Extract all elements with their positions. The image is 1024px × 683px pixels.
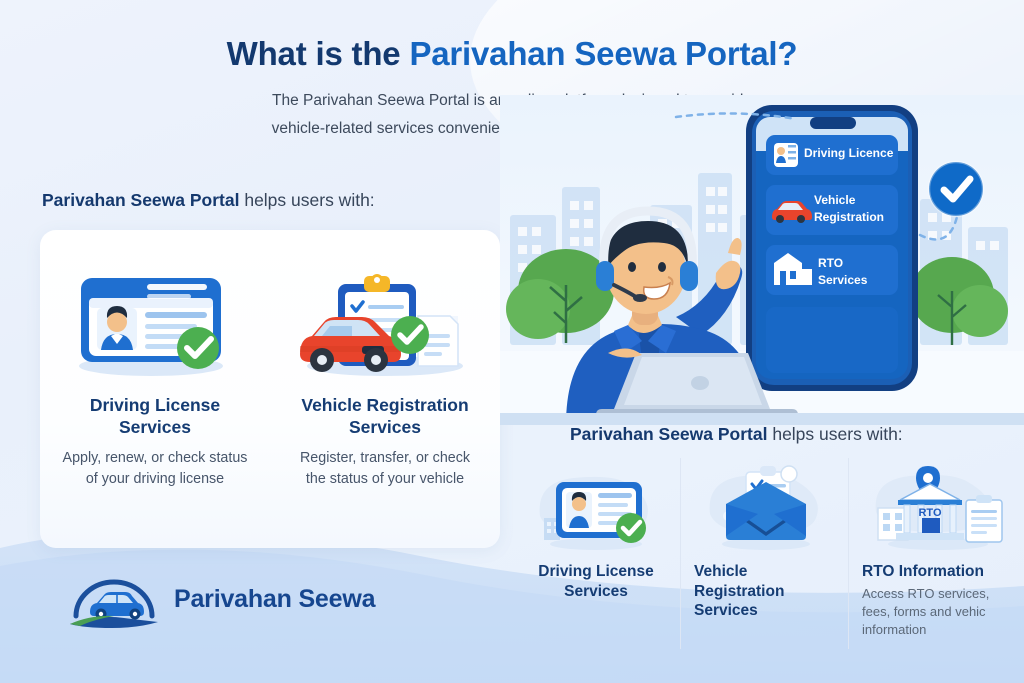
id-card-icon bbox=[54, 256, 256, 388]
parivahan-seewa-logo[interactable]: Parivahan Seewa bbox=[68, 570, 375, 628]
svg-text:RTO: RTO bbox=[918, 507, 941, 519]
page-title: What is the Parivahan Seewa Portal? bbox=[0, 34, 1024, 74]
right-card-driving-license[interactable]: Driving License Services bbox=[512, 452, 680, 657]
title-accent: Parivahan Seewa Portal? bbox=[409, 35, 797, 72]
right-services-panel: Driving License Services bbox=[512, 452, 1024, 657]
left-card-driving-license[interactable]: Driving License Services Apply, renew, o… bbox=[40, 230, 270, 548]
left-lead-rest: helps users with: bbox=[239, 190, 374, 210]
hero-illustration: Driving Licence Vehicle Registration RTO bbox=[500, 95, 1024, 425]
right-card-title: Driving License Services bbox=[526, 562, 666, 601]
svg-text:Services: Services bbox=[818, 273, 868, 287]
parivahan-car-arc-logo bbox=[68, 570, 160, 628]
svg-text:Registration: Registration bbox=[814, 210, 884, 224]
left-card-title: Driving License Services bbox=[54, 394, 256, 439]
right-card-title: Vehicle Registration Services bbox=[694, 562, 834, 621]
left-card-vehicle-registration[interactable]: Vehicle Registration Services Register, … bbox=[270, 230, 500, 548]
right-lead-rest: helps users with: bbox=[767, 424, 902, 444]
left-card-desc: Register, transfer, or check the status … bbox=[284, 448, 486, 489]
id-card-check-icon bbox=[526, 460, 666, 556]
right-card-desc: Access RTO services, fees, forms and veh… bbox=[862, 585, 1012, 640]
right-section-lead: Parivahan Seewa Portal helps users with: bbox=[570, 424, 903, 445]
right-lead-bold: Parivahan Seewa Portal bbox=[570, 424, 767, 444]
right-card-rto-information[interactable]: RTO RTO Information Access RTO services,… bbox=[848, 452, 1024, 657]
car-clipboard-icon bbox=[284, 256, 486, 388]
blue-check-badge-icon bbox=[925, 158, 987, 220]
logo-text: Parivahan Seewa bbox=[174, 585, 375, 614]
svg-text:Driving Licence: Driving Licence bbox=[804, 146, 894, 160]
rto-building-pin-icon: RTO bbox=[862, 460, 1012, 556]
title-plain: What is the bbox=[227, 35, 410, 72]
left-lead-bold: Parivahan Seewa Portal bbox=[42, 190, 239, 210]
left-section-lead: Parivahan Seewa Portal helps users with: bbox=[42, 190, 375, 211]
envelope-document-icon bbox=[694, 460, 834, 556]
right-card-title: RTO Information bbox=[862, 562, 1012, 582]
infographic-canvas: What is the Parivahan Seewa Portal? The … bbox=[0, 0, 1024, 683]
left-services-panel: Driving License Services Apply, renew, o… bbox=[40, 230, 500, 548]
svg-text:Vehicle: Vehicle bbox=[814, 193, 856, 207]
svg-text:RTO: RTO bbox=[818, 256, 843, 270]
right-card-vehicle-registration[interactable]: Vehicle Registration Services bbox=[680, 452, 848, 657]
left-card-title: Vehicle Registration Services bbox=[284, 394, 486, 439]
left-card-desc: Apply, renew, or check status of your dr… bbox=[54, 448, 256, 489]
